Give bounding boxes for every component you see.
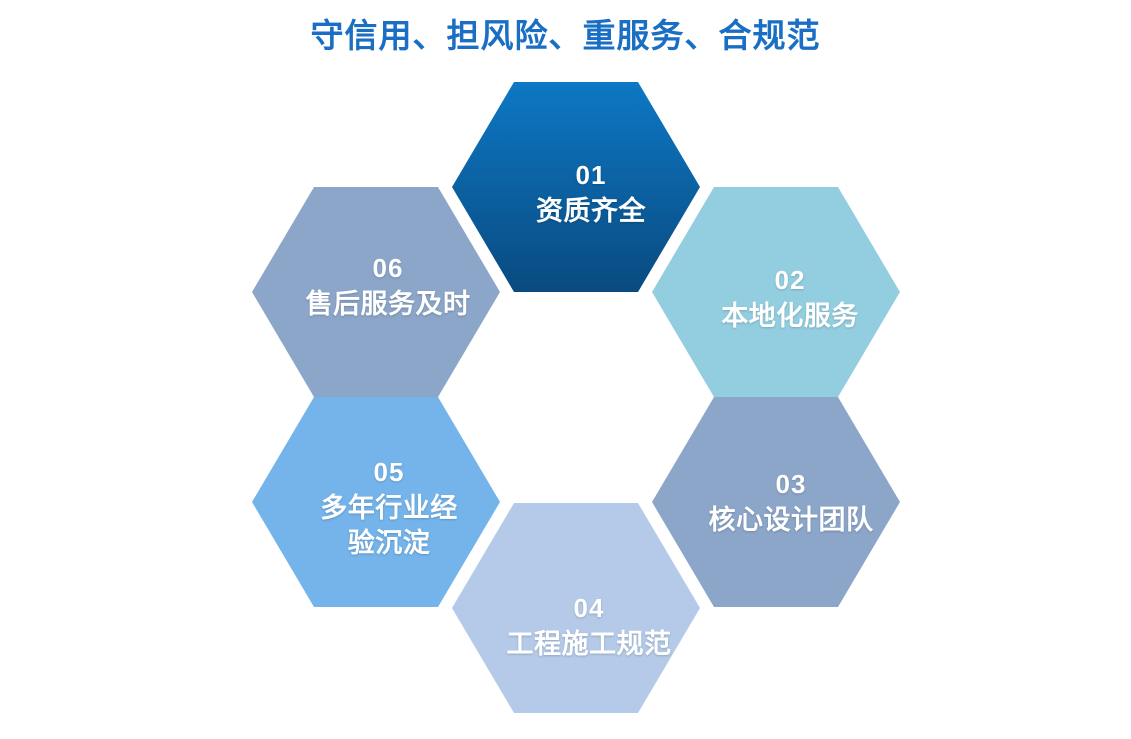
- hexagon-cell-05[interactable]: 05 多年行业经 验沉淀: [252, 397, 500, 607]
- hexagon-cell-04[interactable]: 04 工程施工规范: [452, 503, 700, 713]
- hexagon-cell-06-number: 06: [276, 251, 500, 285]
- hexagon-cell-04-content: 04 工程施工规范: [452, 591, 700, 662]
- hexagon-cell-02-number: 02: [680, 263, 900, 297]
- hexagon-cell-03[interactable]: 03 核心设计团队: [652, 397, 900, 607]
- hexagon-cell-03-content: 03 核心设计团队: [652, 467, 900, 538]
- hexagon-cell-05-label: 多年行业经 验沉淀: [278, 491, 500, 561]
- hexagon-cell-02-label: 本地化服务: [680, 299, 900, 334]
- hexagon-cell-01-content: 01 资质齐全: [452, 158, 700, 229]
- hexagon-cell-03-number: 03: [682, 467, 900, 501]
- hexagon-cell-02[interactable]: 02 本地化服务: [652, 187, 900, 397]
- hexagon-cell-02-content: 02 本地化服务: [652, 263, 900, 334]
- hexagon-cell-01[interactable]: 01 资质齐全: [452, 82, 700, 292]
- hexagon-cell-06[interactable]: 06 售后服务及时: [252, 187, 500, 397]
- hexagon-cell-04-label: 工程施工规范: [478, 627, 700, 662]
- hexagon-cell-04-number: 04: [478, 591, 700, 625]
- honeycomb-diagram: 01 资质齐全 02 本地化服务 03 核心设计团队 04 工程施工规范 05 …: [0, 0, 1131, 739]
- hexagon-cell-05-content: 05 多年行业经 验沉淀: [252, 455, 500, 561]
- hexagon-cell-06-content: 06 售后服务及时: [252, 251, 500, 322]
- hexagon-cell-01-number: 01: [482, 158, 700, 192]
- hexagon-cell-06-label: 售后服务及时: [276, 287, 500, 322]
- hexagon-cell-03-label: 核心设计团队: [682, 503, 900, 538]
- hexagon-cell-01-label: 资质齐全: [482, 194, 700, 229]
- hexagon-cell-05-number: 05: [278, 455, 500, 489]
